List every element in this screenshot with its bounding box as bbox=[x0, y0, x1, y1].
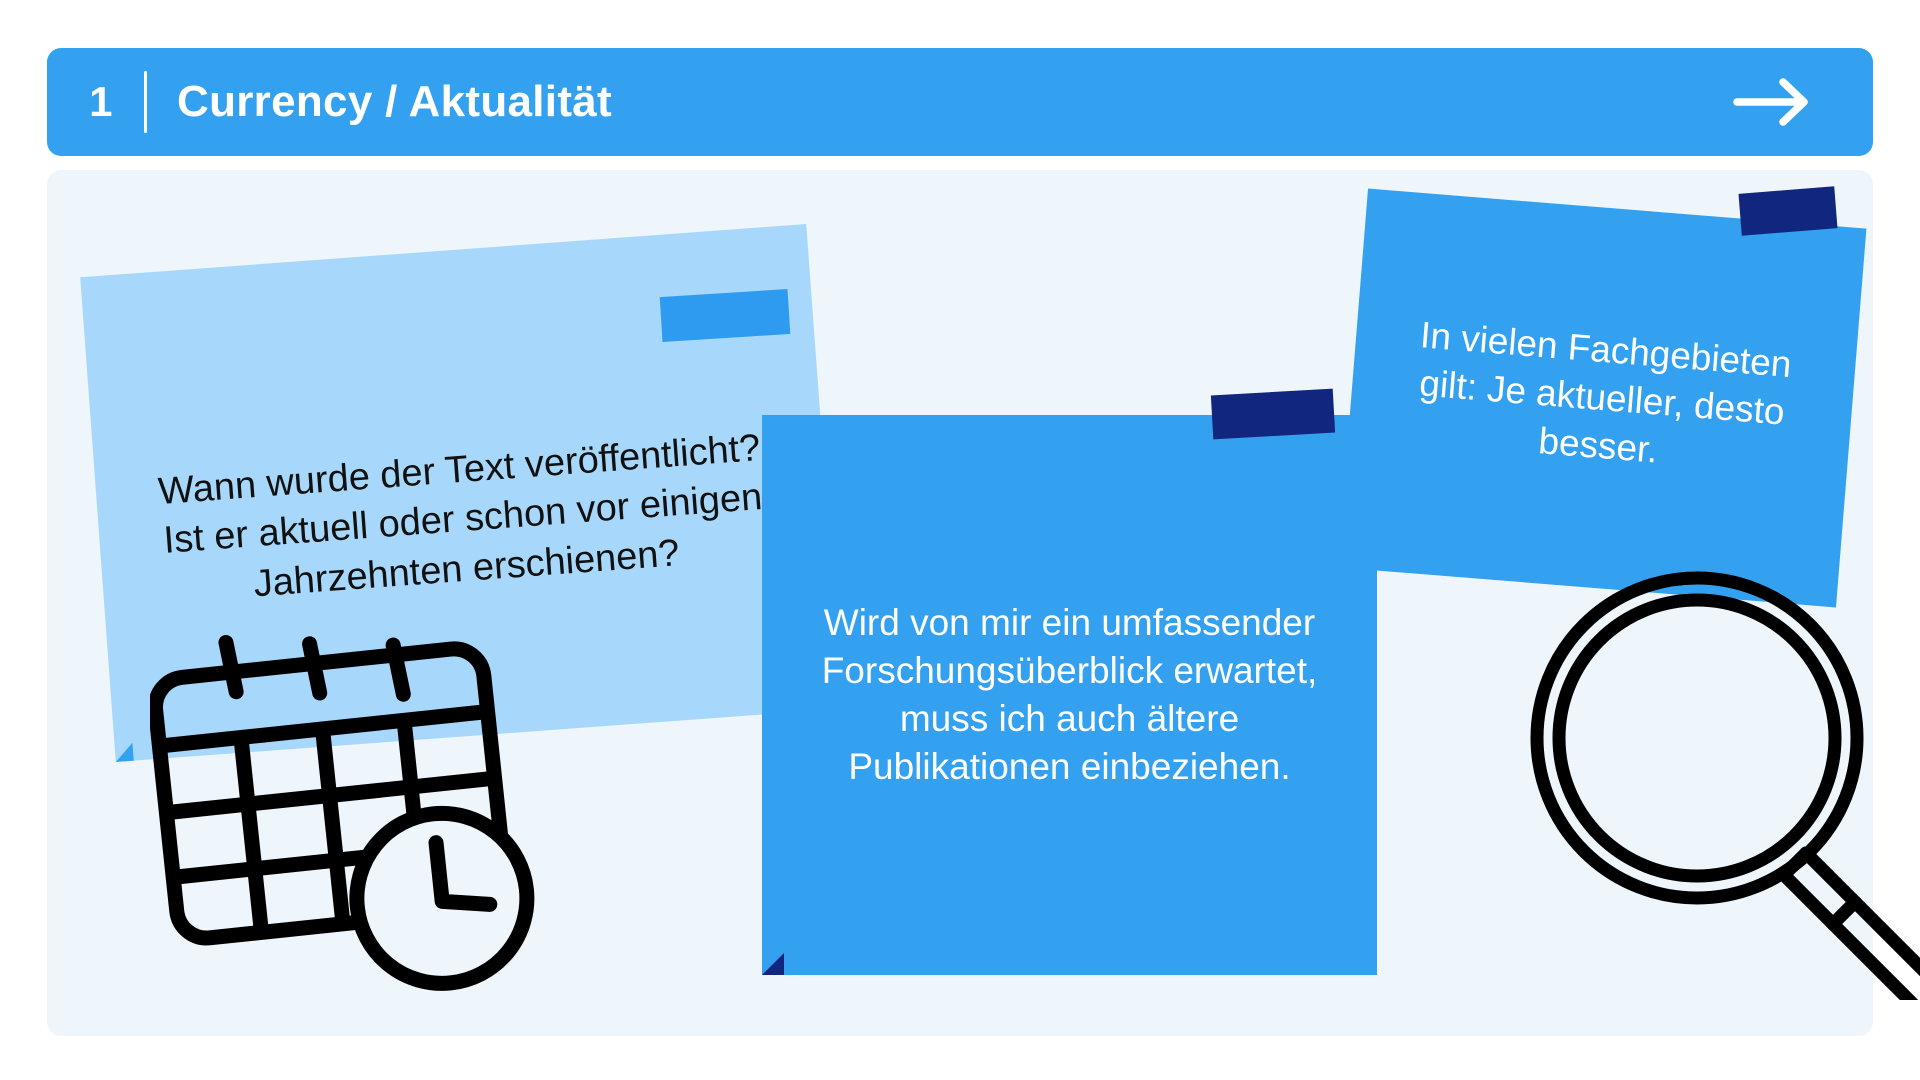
sticky-note-scope[interactable]: Wird von mir ein umfassender Forschungsü… bbox=[762, 415, 1377, 975]
section-header-bar: 1 Currency / Aktualität bbox=[47, 48, 1873, 156]
tape-strip-navy-middle bbox=[1211, 389, 1335, 440]
page-title: Currency / Aktualität bbox=[177, 77, 612, 127]
vertical-divider bbox=[144, 71, 147, 133]
corner-fold-icon bbox=[762, 953, 784, 975]
step-number: 1 bbox=[80, 81, 122, 123]
arrow-right-icon[interactable] bbox=[1727, 75, 1817, 129]
corner-fold-icon bbox=[114, 743, 133, 762]
sticky-note-scope-text: Wird von mir ein umfassender Forschungsü… bbox=[762, 599, 1377, 791]
tape-strip-navy-right bbox=[1739, 186, 1838, 235]
magnifier-icon bbox=[1525, 560, 1920, 1000]
sticky-note-rule[interactable]: In vielen Fachgebieten gilt: Je aktuelle… bbox=[1338, 189, 1867, 608]
sticky-note-question-text: Wann wurde der Text veröffentlicht? Ist … bbox=[95, 419, 832, 620]
calendar-clock-icon bbox=[150, 618, 560, 1018]
content-stage: Wann wurde der Text veröffentlicht? Ist … bbox=[0, 0, 1920, 1080]
tape-strip-light bbox=[660, 289, 791, 342]
sticky-note-rule-text: In vielen Fachgebieten gilt: Je aktuelle… bbox=[1347, 306, 1857, 490]
